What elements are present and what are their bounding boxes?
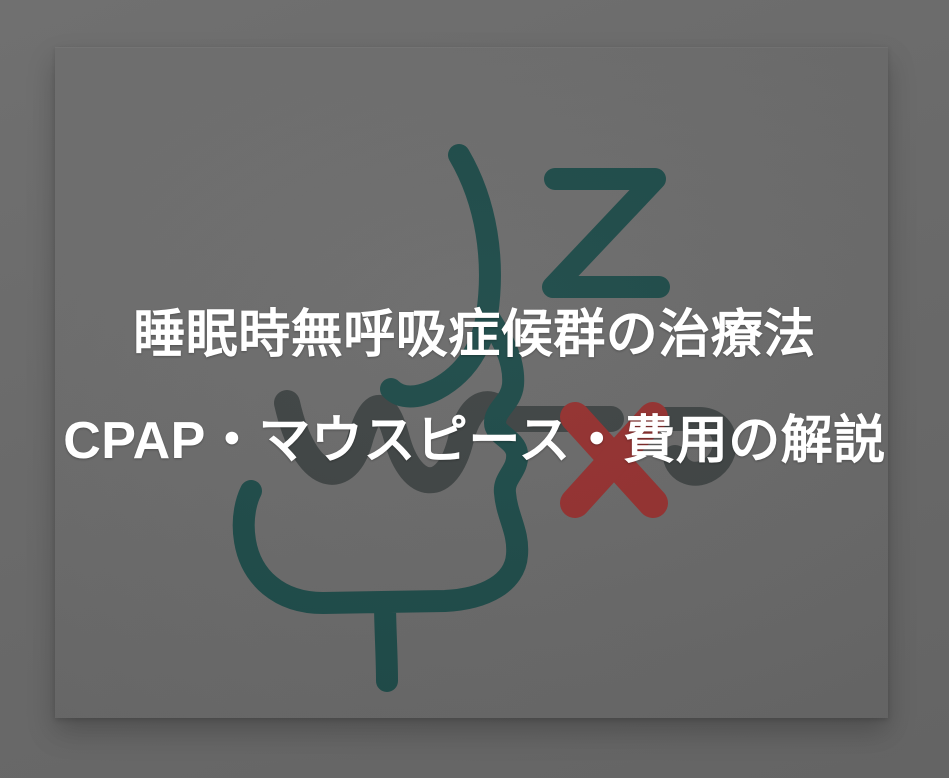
sleep-z-symbol xyxy=(553,179,659,287)
thumbnail-canvas: 睡眠時無呼吸症候群の治療法 CPAP・マウスピース・費用の解説 xyxy=(0,0,949,778)
inner-panel xyxy=(55,47,888,718)
sleep-apnea-profile-illustration xyxy=(55,47,888,718)
